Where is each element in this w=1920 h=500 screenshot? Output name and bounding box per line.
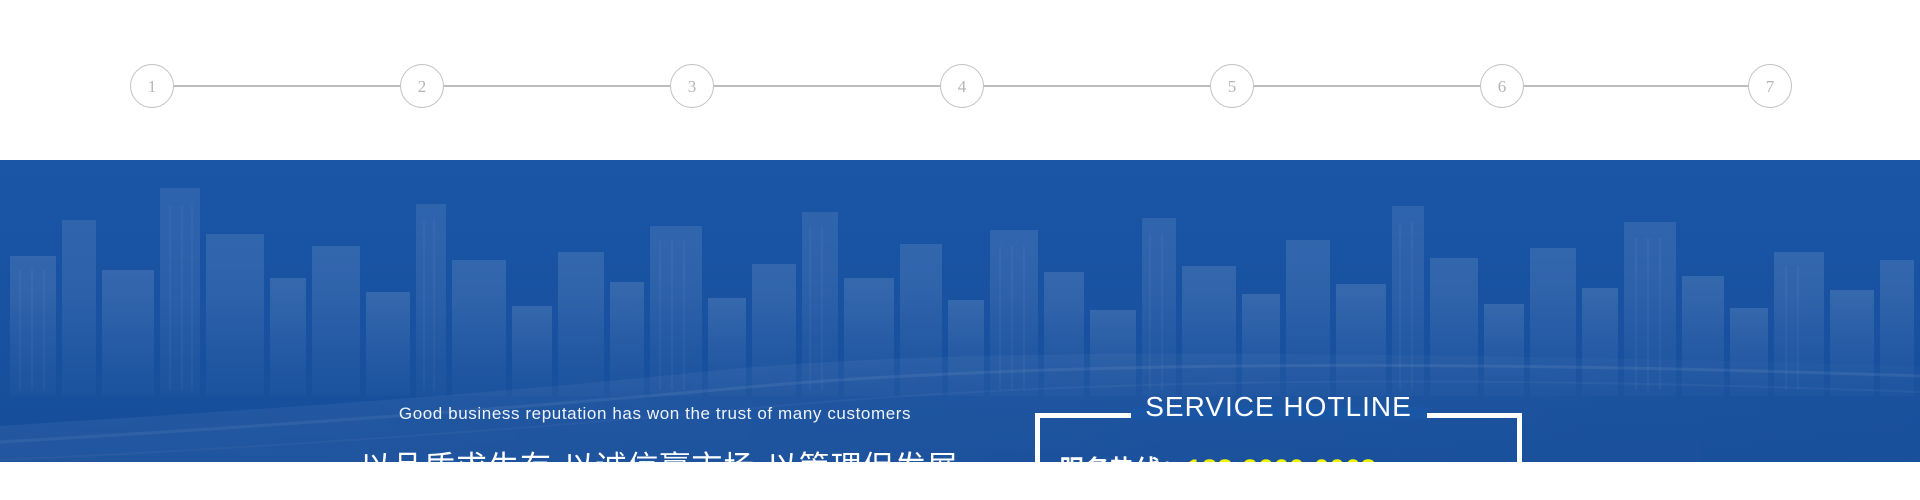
step-node-5[interactable]: 5	[1210, 64, 1254, 108]
step-node-3[interactable]: 3	[670, 64, 714, 108]
hotline-banner: Good business reputation has won the tru…	[0, 160, 1920, 462]
step-node-label: 3	[688, 78, 697, 95]
step-node-7[interactable]: 7	[1748, 64, 1792, 108]
step-node-label: 1	[148, 78, 157, 95]
step-node-1[interactable]: 1	[130, 64, 174, 108]
cityscape-background-image	[0, 160, 1920, 462]
hotline-numbers: 服务热线： 183-2660-0068 0551-63749777	[1035, 451, 1522, 462]
slogan-english: Good business reputation has won the tru…	[360, 404, 950, 424]
stepper-strip: 1 2 3 4 5 6 7	[0, 0, 1920, 160]
step-connector-line	[174, 85, 400, 87]
slogan-chinese-main: 以品质求生存·以诚信赢市场·以管理促发展	[360, 442, 950, 462]
hotline-caption: SERVICE HOTLINE	[1035, 391, 1522, 423]
slogan-block: Good business reputation has won the tru…	[360, 404, 950, 462]
step-node-4[interactable]: 4	[940, 64, 984, 108]
step-node-6[interactable]: 6	[1480, 64, 1524, 108]
step-node-label: 5	[1228, 78, 1237, 95]
step-connector-line	[1254, 85, 1480, 87]
hotline-box: SERVICE HOTLINE 服务热线： 183-2660-0068 0551…	[1035, 413, 1522, 462]
hotline-number-primary[interactable]: 183-2660-0068	[1187, 451, 1377, 462]
step-connector-line	[984, 85, 1210, 87]
step-node-2[interactable]: 2	[400, 64, 444, 108]
page-root: 1 2 3 4 5 6 7	[0, 0, 1920, 500]
step-connector-line	[1524, 85, 1750, 87]
hotline-row-primary: 服务热线： 183-2660-0068	[1059, 451, 1522, 462]
step-node-label: 4	[958, 78, 967, 95]
step-connector-line	[714, 85, 940, 87]
hotline-label: 服务热线：	[1059, 454, 1187, 462]
step-node-label: 2	[418, 78, 427, 95]
step-connector-line	[444, 85, 670, 87]
step-node-label: 6	[1498, 78, 1507, 95]
step-node-label: 7	[1766, 78, 1775, 95]
